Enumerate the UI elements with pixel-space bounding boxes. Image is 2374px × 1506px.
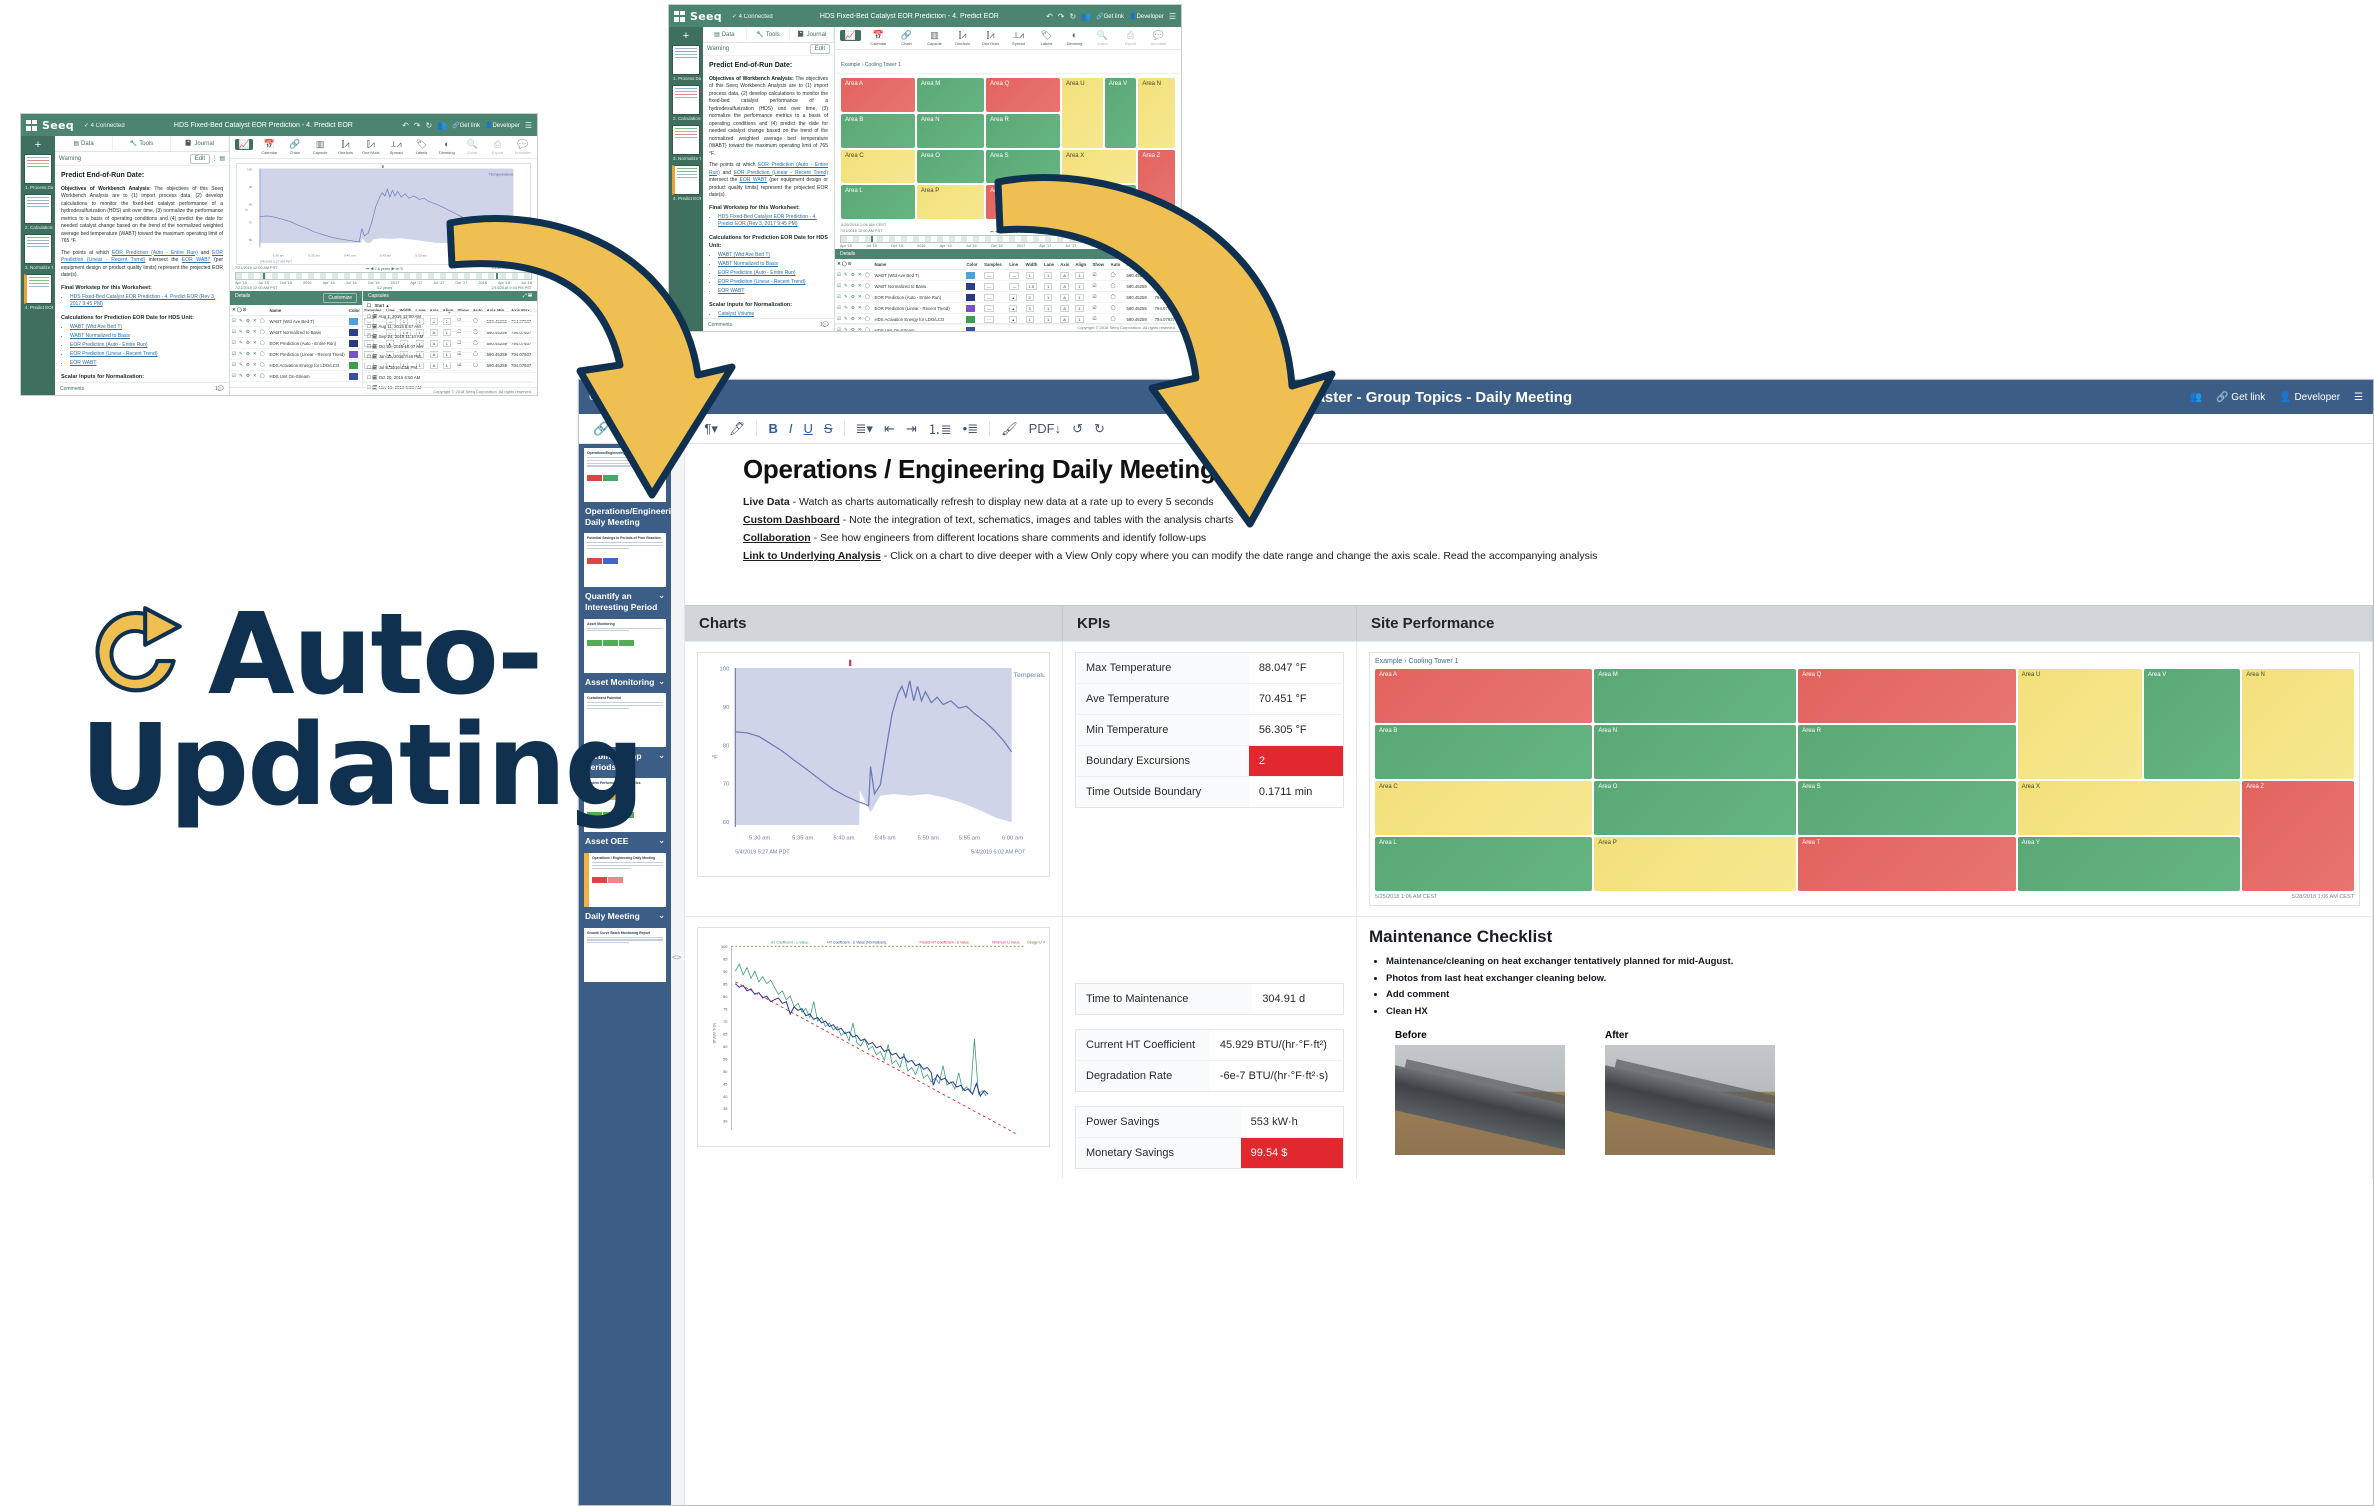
organizer-header-actions[interactable]: 👥 🔗 Get link 👤 Developer ☰ [2190,392,2363,403]
worksheet-rail[interactable]: + 1. Process Data 2. Calculations 3. Nor… [669,27,703,331]
treemap-cell-area-n[interactable]: Area N [1594,725,1796,779]
bullet-list-icon[interactable]: •≣ [963,421,978,437]
seeq-workbench-window-trend[interactable]: Seeq ✓ 4 Connected HDS Fixed-Bed Catalys… [20,113,538,396]
x-tick-3: 5:45 am [874,836,895,842]
svg-text:95: 95 [723,958,727,962]
treemap-cell-area-t[interactable]: Area T [1798,837,2015,891]
row-name-2: EOR Prediction (Auto - Entire Run) [873,292,965,303]
hamburger-icon[interactable]: ☰ [2354,392,2363,403]
add-worksheet-button[interactable]: + [23,139,53,151]
collaborate-icon[interactable]: 👥 [437,121,447,130]
seeq-workbench-window-treemap[interactable]: Seeq ✓ 4 Connected HDS Fixed-Bed Catalys… [668,4,1182,332]
calc-item-4[interactable]: EOR WABT [70,360,223,368]
treemap-cell-area-q[interactable]: Area Q [1798,669,2015,723]
col-axismax[interactable]: Axis Max [1153,259,1181,270]
col-auto[interactable]: Auto [1108,259,1124,270]
get-link-button[interactable]: 🔗 Get link [2216,392,2265,403]
marker-icon [849,660,851,666]
redo-icon[interactable]: ↻ [1094,421,1105,437]
calc-item-3[interactable]: EOR Prediction (Linear - Recent Trend) [718,279,828,287]
calc-item-0[interactable]: WABT (Wtd Ave Bed T) [718,252,828,260]
user-menu[interactable]: 👤Developer [485,122,520,129]
treemap-cell-area-x[interactable]: Area X [2018,781,2241,835]
rail-thumb-1[interactable] [672,45,700,75]
row-name-2: EOR Prediction (Auto - Entire Run) [268,338,347,349]
annotate-icon: 💬 [1148,30,1169,41]
tool-one-axis[interactable]: ⫿⩘OneAxis [952,30,973,46]
svg-text:80: 80 [723,995,727,999]
treemap-cell-area-l[interactable]: Area L [841,185,915,219]
cell-kpi-tables-2[interactable]: Time to Maintenance304.91 d Current HT C… [1063,917,1357,1179]
rail-thumb-4[interactable] [24,274,52,304]
worksheet-rail[interactable]: + 1. Process Data 2. Calculations 3. Nor… [21,136,55,395]
photo-after [1605,1045,1775,1155]
journal-edit-button[interactable]: Edit [810,44,830,54]
redo-icon[interactable]: ↷ [414,121,421,130]
svg-text:55: 55 [723,1058,727,1062]
range-start: 5/4/2019 5:27 AM PDT [260,259,292,263]
rail-thumb-3[interactable] [672,125,700,155]
journal-pane[interactable]: ▤Data 🔧Tools 📓Journal Warning Edit ⋮ ▤ P… [55,136,230,395]
treemap-cell-area-l[interactable]: Area L [1375,837,1592,891]
col-color[interactable]: Color [964,259,982,270]
details-panel[interactable]: Details Customize ✕ ◯ ⊙ Name Color Sampl… [230,291,362,387]
color-icon[interactable]: 🖊 [729,421,746,437]
intro-line-0: Live Data - Watch as charts automaticall… [743,493,2349,511]
treemap-cell-area-a[interactable]: Area A [841,78,915,112]
final-backup-link[interactable]: HDS Fixed-Bed Catalyst EOR Prediction - … [718,214,828,229]
rail-label-4: 4. Predict EOR [671,195,701,202]
tool-calendar[interactable]: 📅Calendar [868,30,889,46]
journal-tabs[interactable]: ▤Data 🔧Tools 📓Journal [703,27,834,43]
undo-icon[interactable]: ↺ [1072,421,1083,437]
eor-linear-link[interactable]: EOR Prediction (Linear - Recent Trend) [734,170,828,176]
comment-count-icon: 1💬 [215,386,224,392]
treemap-workbench[interactable]: 📈 📅Calendar 🔗Chain ▥Capsule ⫿⩘OneAxis ⫿⩘… [835,27,1181,331]
cell-ht-coefficient-chart[interactable]: HT Coefficient - U Value, HT Coefficient… [685,917,1063,1179]
calc-item-3[interactable]: EOR Prediction (Linear - Recent Trend) [70,351,223,359]
treemap-cell-area-a[interactable]: Area A [1375,669,1592,723]
y-tick-100: 100 [247,167,253,171]
treemap-cell-area-n2[interactable]: Area N [2242,669,2354,779]
workbench-header-actions[interactable]: ↶ ↷ ↻ 👥 🔗Get link 👤Developer ☰ [402,121,532,130]
treemap-cell-area-b[interactable]: Area B [841,114,915,148]
treemap-cell-area-z[interactable]: Area Z [1138,150,1175,220]
treemap-chart[interactable]: Area A Area M Area Q Area U Area V Area … [835,74,1181,221]
treemap-footer-right: 5/28/2018 1:06 AM CEST [2292,894,2354,900]
cell-site-treemap[interactable]: Example › Cooling Tower 1 Area A Area M … [1357,642,2373,916]
journal-layout-icon[interactable]: ▤ [219,156,225,162]
pdf-icon[interactable]: PDF↓ [1029,421,1062,436]
svg-text:75: 75 [723,1008,727,1012]
page-break-icon[interactable]: ⎗ [671,421,681,437]
add-worksheet-button[interactable]: + [671,30,701,42]
tool-export[interactable]: ⎙Export [1120,30,1141,46]
range-end: 5/4/2019 6:02 AM PDT [481,259,513,263]
col-axis[interactable]: Axis [1058,259,1073,270]
user-menu[interactable]: 👤Developer [1129,13,1164,20]
kpi-value-4: 0.1711 min [1249,777,1344,808]
kpi3-value-0: 45.929 BTU/(hr·°F·ft²) [1210,1030,1344,1061]
calc-item-1[interactable]: WABT Normalized to Basis [70,333,223,341]
journal-footer[interactable]: Comments 1💬 [703,318,834,331]
calc-item-0[interactable]: WABT (Wtd Ave Bed T) [70,324,223,332]
legend-entry-0: HT Coefficient - U Value, [771,941,810,945]
tool-one-y-axis[interactable]: ⫿⩘OneYAxis [362,139,380,155]
treemap-cell-area-r[interactable]: Area R [986,114,1060,148]
col-name[interactable]: Name [268,305,347,316]
site-treemap[interactable]: Example › Cooling Tower 1 Area A Area M … [1369,652,2360,906]
align-icon[interactable]: ≣▾ [856,421,873,437]
paragraph-icon[interactable]: ¶▾ [704,421,718,437]
kpi-value-3: 2 [1249,746,1344,777]
photo-before [1395,1045,1565,1155]
chevron-down-icon[interactable]: ⌄ [658,911,665,921]
capsule-col-start[interactable]: ☐ Start ▲ [363,301,537,312]
treemap-cell-area-n2[interactable]: Area N [1138,78,1175,148]
kpi4-value-1: 99.54 $ [1241,1138,1344,1169]
sidebar-item-operations-daily-meeting[interactable]: Operations/Engineering Daily Meeting [584,504,666,533]
journal-edit-button[interactable]: Edit [190,154,210,164]
link-icon[interactable]: 🔗 [593,421,609,437]
customize-button[interactable]: Customize [323,293,357,303]
details-tools-icon[interactable]: ⤢ ▤ [1167,251,1176,257]
tool-zoom[interactable]: 🔍Zoom [1092,30,1113,46]
treemap-cell-area-u[interactable]: Area U [1062,78,1103,148]
outdent-icon[interactable]: ⇤ [884,421,895,437]
spread-icon: ⟂⩘ [387,139,405,150]
final-backup-label: Final Workstep for this Worksheet: [61,284,223,292]
col-lane[interactable]: Lane [1042,259,1058,270]
tool-chart-type[interactable]: 📈 [840,30,861,41]
eor-wabt-link[interactable]: EOR WABT [740,177,767,183]
bold-icon[interactable]: B [768,421,777,436]
treemap-cell-area-v[interactable]: Area V [1105,78,1137,148]
row-name-0: WABT (Wtd Ave Bed T) [268,316,347,327]
rail-label-2: 2. Calculations [23,224,53,231]
comments-link[interactable]: Comments [708,322,732,328]
collaborate-icon[interactable]: 👥 [2190,392,2202,403]
table-row: Max Temperature88.047 °F [1076,653,1344,684]
tool-labels[interactable]: 🏷Labels [412,139,430,155]
chart-range-end: 5/4/2019 6:02 AM PDT [971,850,1026,856]
tab-journal[interactable]: 📓Journal [171,136,229,151]
journal-content: Predict End-of-Run Date: Objectives of W… [55,166,229,382]
trend-chart[interactable]: 100 90 80 70 60 °F 5:30 am 5:35 am 5:40 … [236,163,531,265]
tool-capsule[interactable]: ▥Capsule [311,139,329,155]
section-header-row: Charts KPIs Site Performance [685,605,2373,641]
treemap-cell-area-c[interactable]: Area C [1375,781,1592,835]
treemap-breadcrumb[interactable]: Example › Cooling Tower 1 [841,62,901,68]
tool-dimming[interactable]: ◐Dimming [438,139,456,155]
treemap-cell-area-x[interactable]: Area X [1062,150,1136,184]
tool-calendar[interactable]: 📅Calendar [260,139,278,155]
rail-thumb-4[interactable] [672,165,700,195]
sidebar-item-daily-meeting[interactable]: Daily Meeting ⌄ [584,909,666,928]
kpi-table[interactable]: Max Temperature88.047 °F Ave Temperature… [1075,652,1344,808]
list-item[interactable]: ☐ 🗓 Oct 22, 2015 10:07 AM [363,343,537,353]
treemap-cell-area-s[interactable]: Area S [986,150,1060,184]
treemap-cell-area-u[interactable]: Area U [2018,669,2142,779]
kpi-table-coefficient[interactable]: Current HT Coefficient45.929 BTU/(hr·°F·… [1075,1029,1344,1092]
tool-export[interactable]: ⎙Export [488,139,506,155]
collaborate-icon[interactable]: 👥 [1081,12,1091,21]
seeq-wordmark: Seeq [42,119,74,132]
kpi-label-3: Boundary Excursions [1076,746,1249,777]
row-name-3: EOR Prediction (Linear - Recent Trend) [873,303,965,314]
table-icon[interactable]: ▦ [648,421,660,437]
details-panel[interactable]: Details⤢ ▤ ✕ ◯ ⊙NameColorSamplesLineWidt… [835,249,1181,323]
section-kpis: KPIs [1063,606,1357,641]
slider-ticks: Apr '15Jul '15Oct '152016Apr '16Jul '16O… [840,244,1176,248]
legend-entry-4: Design U Value, [1027,941,1045,945]
zoom-icon: 🔍 [463,139,481,150]
cell-maintenance-checklist[interactable]: Maintenance Checklist Maintenance/cleani… [1357,917,2373,1179]
kpi-table-maintenance[interactable]: Time to Maintenance304.91 d [1075,983,1344,1015]
row-name-1: WABT Normalized to Basis [268,327,347,338]
organizer-toolbar[interactable]: 🔗 🖼 ▦ ⎗ ¶▾ 🖊 B I U S ≣▾ ⇤ ⇥ ⒈≣ •≣ 🖌 PDF↓… [579,414,2373,444]
image-icon[interactable]: 🖼 [620,421,637,437]
treemap-header-actions[interactable]: ↶ ↷ ↻ 👥 🔗Get link 👤Developer ☰ [1046,12,1176,21]
col-show[interactable]: Show [1091,259,1109,270]
one-y-axis-icon: ⫿⩘ [980,30,1001,41]
tool-chart-type[interactable]: 📈 [235,139,253,150]
one-axis-icon: ⫿⩘ [336,139,354,150]
list-item[interactable]: ☐ 🗓 Jul 8, 2016 4:58 PM [363,363,537,373]
journal-heading: Predict End-of-Run Date: [61,171,223,182]
tab-data[interactable]: ▤Data [55,136,113,151]
kpi-label-0: Max Temperature [1076,653,1249,684]
sidebar-thumb-6[interactable]: Growth Curve Batch Monitoring Report [584,928,666,982]
p2c: intersect the [145,257,182,263]
list-item[interactable]: ☐ 🗓 Jan 15, 2016 7:46 PM [363,353,537,363]
treemap-cell-area-z[interactable]: Area Z [2242,781,2354,891]
svg-text:70: 70 [723,1020,727,1024]
strikethrough-icon[interactable]: S [824,421,833,436]
list-item[interactable]: ☐ 🗓 Aug 11, 2015 8:57 AM [363,322,537,332]
svg-text:BTU/(hr·°F·ft²): BTU/(hr·°F·ft²) [713,1023,717,1043]
sidebar-item-asset-oee[interactable]: Asset OEE ⌄ [584,834,666,853]
content-row-1: 100 90 80 70 60 °F 5:30 am 5:35 am 5:40 … [685,641,2373,916]
svg-text:45: 45 [723,1083,727,1087]
tab-tools[interactable]: 🔧Tools [747,27,791,42]
journal-heading: Predict End-of-Run Date: [709,61,828,72]
col-axismin[interactable]: Axis Min [1124,259,1152,270]
journal-tabs[interactable]: ▤Data 🔧Tools 📓Journal [55,136,229,152]
app-logo-grid-icon [674,11,685,22]
treemap-cell-area-p[interactable]: Area P [917,185,984,219]
calc-item-1[interactable]: WABT Normalized to Basis [718,261,828,269]
treemap-cell-area-r[interactable]: Area R [1798,725,2015,779]
ht-coefficient-chart[interactable]: HT Coefficient - U Value, HT Coefficient… [697,927,1050,1147]
chevron-down-icon[interactable]: ⌄ [658,836,665,846]
data-icon: ▤ [714,32,720,38]
maintenance-list: Maintenance/cleaning on heat exchanger t… [1386,954,2360,1021]
list-item[interactable]: ☐ 🗓 Aug 1, 2015 12:00 AM [363,312,537,322]
final-backup-link[interactable]: HDS Fixed-Bed Catalyst EOR Prediction - … [70,294,223,309]
slider-start: 7/21/2015 12:00 AM PST [840,229,882,234]
rail-thumb-3[interactable] [24,234,52,264]
tool-one-axis[interactable]: ⫿⩘OneAxis [336,139,354,155]
time-slider[interactable]: 7/21/2015 12:00 AM PST ⏮ ◀ 2.6 years ▶ ⏭… [835,228,1181,249]
get-link-button[interactable]: 🔗Get link [1096,13,1124,20]
tool-spread[interactable]: ⟂⩘Spread [387,139,405,155]
eor-wabt-link[interactable]: EOR WABT [182,257,211,263]
hamburger-icon[interactable]: ☰ [1169,12,1176,21]
list-item: Maintenance/cleaning on heat exchanger t… [1386,954,2360,971]
tool-spread[interactable]: ⟂⩘Spread [1008,30,1029,46]
col-samples[interactable]: Samples [982,259,1007,270]
treemap-footer-left: 5/25/2018 1:06 AM CEST [841,222,886,227]
indent-icon[interactable]: ⇥ [906,421,917,437]
list-item[interactable]: Add comment [1386,987,2360,1004]
calendar-icon: 📅 [868,30,889,41]
tool-annotate[interactable]: 💬Annotate [1148,30,1169,46]
user-menu[interactable]: 👤 Developer [2279,392,2340,403]
treemap-cell-area-y[interactable]: Area Y [2018,837,2241,891]
journal-pane[interactable]: ▤Data 🔧Tools 📓Journal Warning Edit Predi… [703,27,835,331]
connected-status: ✓ 4 Connected [84,122,125,129]
time-slider[interactable]: 7/21/2015 12:00 AM PST ⏮ ◀ 2.6 years ▶ ⏭… [230,265,537,291]
tab-journal[interactable]: 📓Journal [790,27,834,42]
list-item[interactable]: ☐ 🗓 Sep 24, 2015 11:10 AM [363,332,537,342]
journal-footer[interactable]: Comments 1💬 [55,382,229,395]
treemap-cell-area-n[interactable]: Area N [917,114,984,148]
undo-icon[interactable]: ↶ [402,121,409,130]
hamburger-icon[interactable]: ☰ [525,121,532,130]
redo-icon[interactable]: ↷ [1058,12,1065,21]
organizer-topic-window[interactable]: Connected DEMO Master - Group Topics - D… [578,379,2374,1506]
history-icon[interactable]: ↻ [1069,12,1076,21]
treemap-cell-area-p[interactable]: Area P [1594,837,1796,891]
svg-text:40: 40 [723,1095,727,1099]
treemap-toolbar[interactable]: 📈 📅Calendar 🔗Chain ▥Capsule ⫿⩘OneAxis ⫿⩘… [835,27,1181,50]
tab-data[interactable]: ▤Data [703,27,747,42]
objective-label: Objectives of Workbench Analysis: [709,76,794,82]
label-after: After [1605,1030,1628,1041]
details-title: Details [840,251,855,257]
comments-link[interactable]: Comments [60,386,84,392]
calc-item-2[interactable]: EOR Prediction (Auto - Entire Run) [718,270,828,278]
treemap-cell-area-s[interactable]: Area S [1798,781,2015,835]
journal-subtitle: Warning [59,156,81,162]
table-row: Ave Temperature70.451 °F [1076,684,1344,715]
sidebar-thumb-5[interactable]: Operations / Engineering Daily Meeting [584,853,666,907]
rail-label-3: 3. Normalize T [23,264,53,271]
connected-status: ✓ 4 Connected [732,13,773,20]
treemap-cell-area-v[interactable]: Area V [2144,669,2240,779]
legend-entry-3: Minimum U Value, [992,941,1021,945]
rail-thumb-2[interactable] [672,85,700,115]
capsules-tools-icon[interactable]: ⤢ ▤ [523,293,532,299]
svg-text:35: 35 [723,1108,727,1112]
undo-icon[interactable]: ↶ [1046,12,1053,21]
list-item[interactable]: Clean HX [1386,1004,2360,1021]
clear-format-icon[interactable]: 🖌 [1001,421,1018,437]
eor-auto-link[interactable]: EOR Prediction (Auto - Entire Run) [112,250,198,256]
comment-count-icon: 1💬 [820,322,829,328]
trend-toolbar[interactable]: 📈 📅Calendar 🔗Chain ▥Capsule ⫿⩘OneAxis ⫿⩘… [230,136,537,159]
sidebar-thumb-0[interactable]: Operations/Engineering Daily Meeting [584,448,666,502]
ordered-list-icon[interactable]: ⒈≣ [928,419,952,438]
col-name[interactable]: Name [873,259,965,270]
rail-thumb-1[interactable] [24,154,52,184]
timebar-duration: 3.2 years [377,286,393,290]
col-color[interactable]: Color [347,305,362,316]
underline-icon[interactable]: U [803,421,812,436]
y-tick-80: 80 [249,203,253,207]
tool-capsule[interactable]: ▥Capsule [924,30,945,46]
wrench-icon: 🔧 [756,32,763,38]
journal-icon: 📓 [185,141,192,147]
topic-document[interactable]: Operations / Engineering Daily Meeting L… [685,444,2373,1505]
rail-label-1: 1. Process Data [23,184,53,191]
scalar-item-0[interactable]: Catalyst Volume [718,311,828,318]
col-width[interactable]: Width [1024,259,1042,270]
workbench-header: Seeq ✓ 4 Connected HDS Fixed-Bed Catalys… [21,114,537,136]
treemap-cell-area-m[interactable]: Area M [1594,669,1796,723]
tool-one-y-axis[interactable]: ⫿⩘OneYAxis [980,30,1001,46]
tool-labels[interactable]: 🏷Labels [1036,30,1057,46]
timebar-right: 2/14/2018 9:43 PM PST [491,286,532,290]
tool-dimming[interactable]: ◐Dimming [1064,30,1085,46]
kpi-label-4: Time Outside Boundary [1076,777,1249,808]
treemap-cell-area-o[interactable]: Area O [1594,781,1796,835]
table-row: ☑ ✎ ⚙ ✕ ◯EOR Prediction (Linear - Recent… [835,303,1181,314]
treemap-cell-area-b[interactable]: Area B [1375,725,1592,779]
treemap-cell-area-m[interactable]: Area M [917,78,984,112]
slider-nav[interactable]: ⏮ ◀ 2.6 years ▶ ⏭ ↻ [990,229,1028,234]
tool-chain[interactable]: 🔗Chain [286,139,304,155]
treemap-cell-area-c[interactable]: Area C [841,150,915,184]
tool-annotate[interactable]: 💬Annotate [514,139,532,155]
details-table[interactable]: ✕ ◯ ⊙NameColorSamplesLineWidthLaneAxisAl… [835,259,1181,332]
list-item[interactable]: ☐ 🗓 Oct 20, 2016 6:50 AM [363,373,537,383]
sidebar-thumb-1[interactable]: Potential Savings in Periods of Poor Rea… [584,533,666,587]
treemap-cell-area-y[interactable]: Area Y [1062,185,1136,219]
tool-chain[interactable]: 🔗Chain [896,30,917,46]
tool-zoom[interactable]: 🔍Zoom [463,139,481,155]
history-icon[interactable]: ↻ [425,121,432,130]
cell-kpi-table[interactable]: Max Temperature88.047 °F Ave Temperature… [1063,642,1357,916]
trend-workbench[interactable]: 📈 📅Calendar 🔗Chain ▥Capsule ⫿⩘OneAxis ⫿⩘… [230,136,537,395]
treemap-cell-area-t[interactable]: Area T [986,185,1060,219]
journal-more-icon[interactable]: ⋮ [212,156,218,162]
treemap-breadcrumb[interactable]: Example › Cooling Tower 1 [1375,658,2354,665]
kpi4-label-1: Monetary Savings [1076,1138,1241,1169]
collapse-chevrons-icon[interactable]: <> [672,953,681,962]
get-link-button[interactable]: 🔗Get link [452,122,480,129]
tab-tools[interactable]: 🔧Tools [113,136,171,151]
capsules-panel[interactable]: Capsules⤢ ▤ ☐ Start ▲ ☐ 🗓 Aug 1, 2015 12… [362,291,537,387]
rail-label-4: 4. Predict EOR [23,304,53,311]
p2b: and [198,250,212,256]
slider-nav[interactable]: ⏮ ◀ 2.6 years ▶ ⏭ ↻ [366,266,404,271]
annotate-icon: 💬 [514,139,532,150]
rail-thumb-2[interactable] [24,194,52,224]
x-tick-1: 5:35 am [308,254,320,258]
col-line[interactable]: Line [1007,259,1023,270]
treemap-cell-area-q[interactable]: Area Q [986,78,1060,112]
table-row: ☑ ✎ ⚙ ✕ ◯WABT Normalized to Basis——1.51A… [835,281,1181,292]
calc-item-4[interactable]: EOR WABT [718,288,828,296]
calc-item-2[interactable]: EOR Prediction (Auto - Entire Run) [70,342,223,350]
treemap-cell-area-o[interactable]: Area O [917,150,984,184]
trend-chart-area[interactable]: 100 90 80 70 60 °F 5:30 am 5:35 am 5:40 … [230,159,537,265]
italic-icon[interactable]: I [789,421,793,436]
kpi-table-savings[interactable]: Power Savings553 kW·h Monetary Savings99… [1075,1106,1344,1169]
col-align[interactable]: Align [1073,259,1090,270]
